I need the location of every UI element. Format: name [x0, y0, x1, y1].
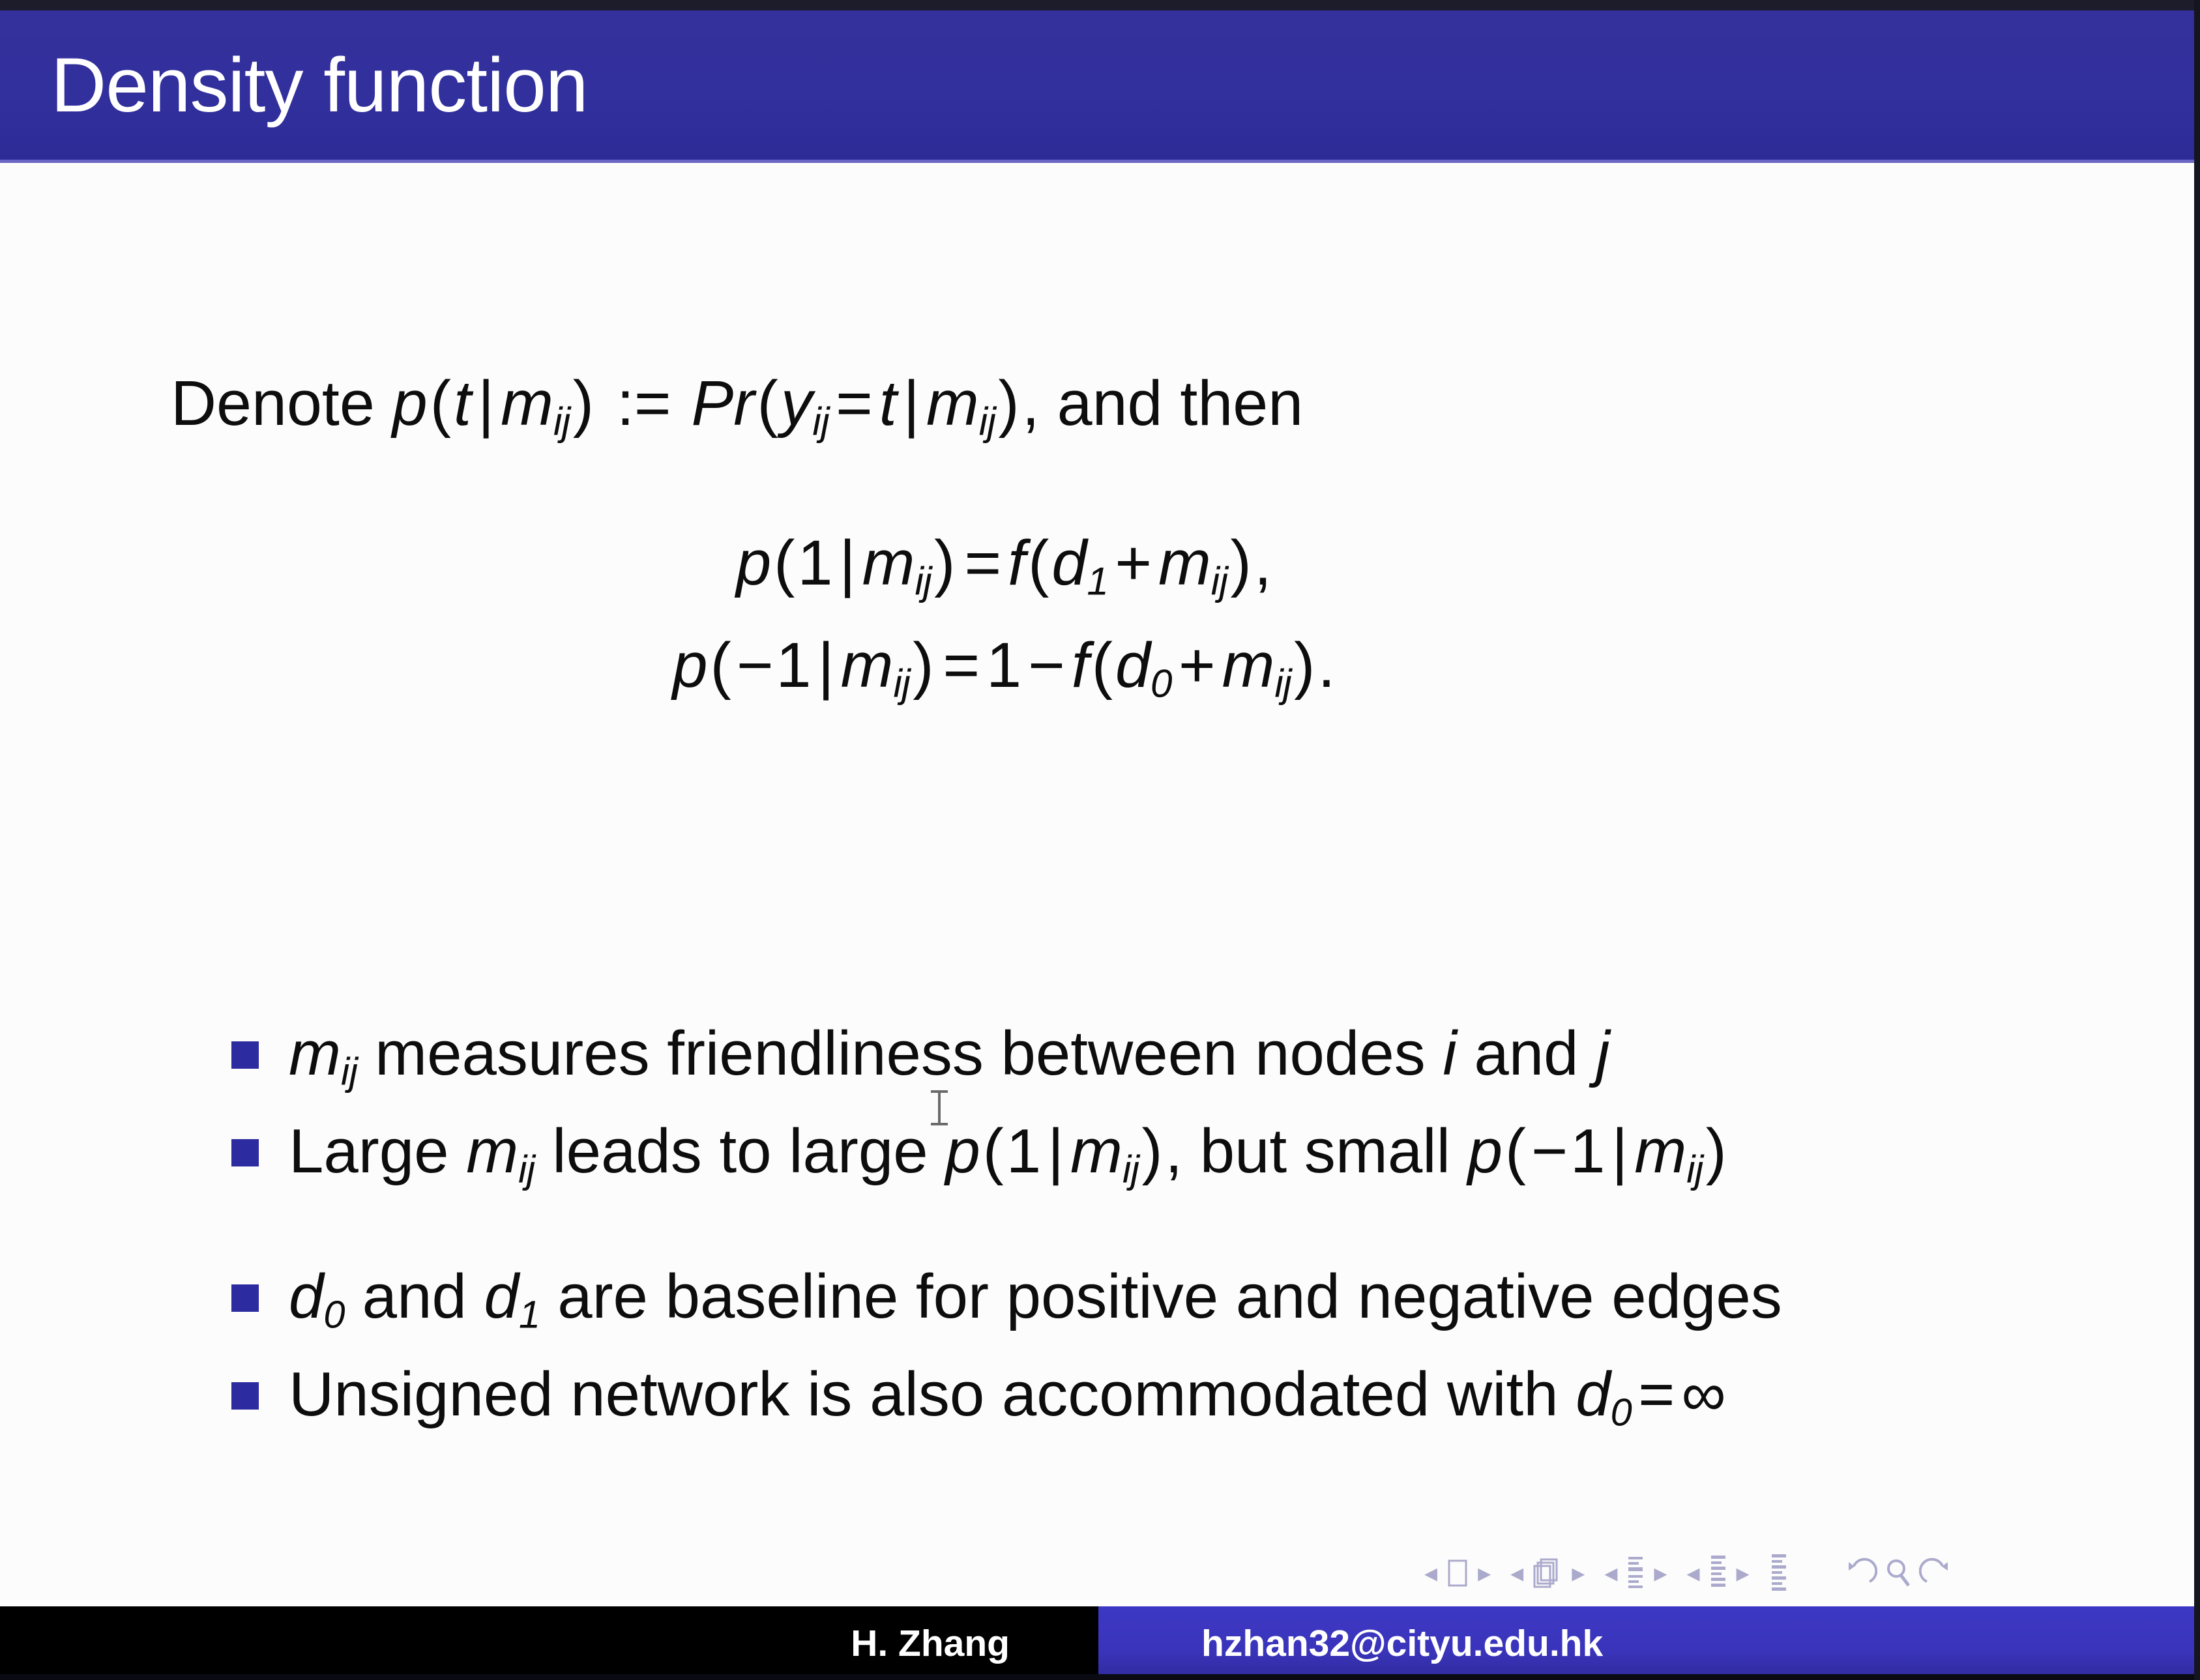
eq2-punct: . [1317, 630, 1335, 701]
bullet-large-mij: Large mij leads to large p(1|mij), but s… [289, 1114, 1729, 1193]
eq1-rhs-open: ( [1025, 527, 1051, 598]
eq2-lhs-m: m [841, 630, 894, 701]
b3-text-2: are baseline for positive and negative e… [540, 1262, 1782, 1331]
b4-d0: d [1576, 1359, 1610, 1429]
bullet-unsigned-network: Unsigned network is also accommodated wi… [289, 1357, 1726, 1436]
eq2-lhs-minus: − [734, 630, 776, 701]
eq1-rhs-close: ) [1228, 527, 1254, 598]
next-slide-arrow-icon[interactable]: ▸ [1478, 1560, 1491, 1586]
equation-p-minus1: p(−1|mij)=1−f(d0+mij). [0, 614, 2008, 716]
eq2-rhs-f: f [1072, 630, 1089, 701]
b4-equals: = [1632, 1359, 1681, 1429]
text-cursor-icon [931, 1090, 948, 1125]
top-letterbox-strip [0, 0, 2200, 10]
intro-paren-open-2: ( [755, 368, 781, 439]
eq2-lhs-m-sub: ij [893, 662, 910, 706]
eq2-rhs-m-sub: ij [1274, 662, 1291, 706]
intro-m-1-sub: ij [553, 400, 570, 444]
intro-assign-operator: := [614, 368, 674, 439]
intro-statement: Denote p(t|mij) := Pr(yij=t|mij), and th… [171, 371, 1303, 442]
b3-d1: d [484, 1262, 519, 1331]
eq1-lhs-close: ) [931, 527, 958, 598]
eq2-lhs-close: ) [910, 630, 936, 701]
b2-m-1-sub: ij [1122, 1147, 1139, 1191]
b2-close-1: ) [1139, 1116, 1165, 1186]
eq2-rhs-m: m [1222, 630, 1275, 701]
b4-d0-sub: 0 [1611, 1391, 1632, 1434]
b2-text-1: leads to large [535, 1116, 946, 1186]
eq2-lhs-bar: | [811, 630, 840, 701]
b2-m-sub: ij [518, 1147, 535, 1191]
prev-slide-arrow-icon[interactable]: ◂ [1424, 1560, 1437, 1586]
section-icon[interactable] [1709, 1554, 1728, 1592]
list-item: d0 and d1 are baseline for positive and … [231, 1260, 2122, 1338]
bottom-letterbox-strip [0, 1674, 2200, 1680]
b2-open-1: ( [980, 1116, 1006, 1186]
next-frame-arrow-icon[interactable]: ▸ [1572, 1560, 1585, 1586]
b1-i: i [1443, 1019, 1456, 1088]
frame-navigation[interactable]: ◂ ▸ [1510, 1557, 1585, 1589]
eq1-lhs-open: ( [771, 527, 797, 598]
slide-navigation[interactable]: ◂ ▸ [1424, 1558, 1491, 1588]
b1-text-1: measures friendliness between nodes [357, 1019, 1443, 1088]
eq1-rhs-d: d [1051, 527, 1087, 598]
b1-text-2: and [1457, 1019, 1596, 1088]
b2-p-2: p [1468, 1116, 1503, 1186]
intro-pr: Pr [692, 368, 755, 439]
eq2-lhs-p: p [673, 630, 708, 701]
eq2-rhs-one: 1 [986, 630, 1021, 701]
intro-m-2-sub: ij [979, 400, 996, 444]
b2-open-2: ( [1503, 1116, 1529, 1186]
subsection-navigation[interactable]: ◂ ▸ [1604, 1556, 1667, 1591]
bullet-square-icon [231, 1041, 259, 1069]
history-navigation[interactable] [1842, 1556, 1954, 1591]
page-title: Density function [51, 41, 588, 130]
prev-section-arrow-icon[interactable]: ◂ [1686, 1560, 1699, 1586]
slide-footer: H. Zhang hzhan32@cityu.edu.hk [0, 1606, 2200, 1680]
back-icon[interactable] [1842, 1556, 1877, 1591]
intro-m-1: m [501, 368, 553, 439]
eq2-rhs-close: ) [1291, 630, 1317, 701]
eq1-rhs-m-sub: ij [1211, 560, 1228, 603]
intro-y: y [781, 368, 813, 439]
intro-t: t [454, 368, 471, 439]
eq1-lhs-bar: | [832, 527, 862, 598]
b2-m: m [466, 1116, 518, 1186]
eq1-punct: , [1254, 527, 1272, 598]
b2-text-2: , but small [1165, 1116, 1467, 1186]
eq2-relation: = [937, 630, 987, 701]
right-letterbox-strip [2194, 0, 2200, 1680]
eq1-lhs-m: m [862, 527, 915, 598]
intro-equals: = [829, 368, 879, 439]
intro-paren-close: ) [570, 368, 596, 439]
eq1-relation: = [958, 527, 1008, 598]
bullet-list: mij measures friendliness between nodes … [231, 1017, 2122, 1436]
b2-arg-1: 1 [1006, 1116, 1041, 1186]
beamer-navigation-bar[interactable]: ◂ ▸ ◂ ▸ ◂ [1424, 1544, 2154, 1602]
list-item: Large mij leads to large p(1|mij), but s… [231, 1114, 2122, 1193]
b3-d1-sub: 1 [519, 1293, 540, 1337]
b2-m-1: m [1070, 1116, 1122, 1186]
slide-body: Denote p(t|mij) := Pr(yij=t|mij), and th… [0, 166, 2200, 1600]
intro-tail: , and then [1022, 368, 1303, 439]
b3-d0: d [289, 1262, 323, 1331]
b2-p-1: p [945, 1116, 980, 1186]
eq2-rhs-d: d [1115, 630, 1151, 701]
eq1-rhs-operator: + [1108, 527, 1158, 598]
b4-infinity: ∞ [1681, 1359, 1725, 1429]
b2-close-2: ) [1703, 1116, 1729, 1186]
eq2-rhs-open: ( [1089, 630, 1115, 701]
eq1-lhs-arg: 1 [797, 527, 832, 598]
next-subsection-arrow-icon[interactable]: ▸ [1654, 1560, 1667, 1586]
eq2-lhs-open: ( [708, 630, 734, 701]
b3-text-1: and [345, 1262, 484, 1331]
footer-author: H. Zhang [851, 1622, 1010, 1665]
bullet-square-icon [231, 1139, 259, 1166]
section-navigation[interactable]: ◂ ▸ [1686, 1554, 1749, 1592]
b2-m-2-sub: ij [1686, 1147, 1703, 1191]
b3-d0-sub: 0 [323, 1293, 345, 1337]
intro-m-2: m [926, 368, 979, 439]
b2-arg-2: 1 [1570, 1116, 1605, 1186]
intro-y-sub: ij [812, 400, 829, 444]
b2-minus: − [1529, 1116, 1570, 1186]
document-icon[interactable] [1769, 1553, 1789, 1593]
subsection-icon[interactable] [1626, 1556, 1645, 1591]
forward-icon[interactable] [1919, 1556, 1954, 1591]
eq2-rhs-operator: + [1172, 630, 1222, 701]
intro-bar-1: | [471, 368, 501, 439]
b1-m: m [289, 1019, 341, 1088]
eq1-rhs-d-sub: 1 [1087, 560, 1108, 603]
footer-email: hzhan32@cityu.edu.hk [1201, 1622, 1603, 1665]
intro-lead: Denote [171, 368, 375, 439]
bullet-d0-d1-baseline: d0 and d1 are baseline for positive and … [289, 1260, 1782, 1338]
b1-m-sub: ij [341, 1049, 357, 1093]
equation-p1: p(1|mij)=f(d1+mij), [0, 512, 2008, 614]
b1-j: j [1596, 1019, 1609, 1088]
intro-bar-2: | [897, 368, 926, 439]
eq1-rhs-f: f [1008, 527, 1025, 598]
footer-author-block: H. Zhang [0, 1606, 1098, 1680]
next-section-arrow-icon[interactable]: ▸ [1737, 1560, 1750, 1586]
b4-text-1: Unsigned network is also accommodated wi… [289, 1359, 1576, 1429]
prev-frame-arrow-icon[interactable]: ◂ [1510, 1560, 1523, 1586]
list-item: mij measures friendliness between nodes … [231, 1017, 2122, 1095]
eq2-rhs-d-sub: 0 [1151, 662, 1172, 706]
b2-bar-2: | [1605, 1116, 1634, 1186]
presentation-slide: Density function Denote p(t|mij) := Pr(y… [0, 0, 2200, 1680]
bullet-square-icon [231, 1382, 259, 1410]
bullet-mij-friendliness: mij measures friendliness between nodes … [289, 1017, 1610, 1095]
intro-paren-open: ( [428, 368, 454, 439]
list-item: Unsigned network is also accommodated wi… [231, 1357, 2122, 1436]
prev-subsection-arrow-icon[interactable]: ◂ [1604, 1560, 1617, 1586]
eq1-lhs-p: p [736, 527, 771, 598]
slide-title-bar: Density function [0, 10, 2200, 163]
eq1-lhs-m-sub: ij [915, 560, 931, 603]
bullet-square-icon [231, 1284, 259, 1312]
document-navigation[interactable] [1769, 1553, 1789, 1593]
b2-lead: Large [289, 1116, 466, 1186]
eq1-rhs-m: m [1158, 527, 1211, 598]
b2-m-2: m [1634, 1116, 1686, 1186]
footer-email-block: hzhan32@cityu.edu.hk [1098, 1606, 2200, 1680]
equation-block: p(1|mij)=f(d1+mij), p(−1|mij)=1−f(d0+mij… [0, 512, 2008, 716]
intro-p: p [392, 368, 428, 439]
intro-paren-close-2: ) [995, 368, 1021, 439]
slide-icon[interactable] [1446, 1558, 1469, 1588]
search-icon[interactable] [1883, 1556, 1914, 1591]
eq2-lhs-arg: 1 [776, 630, 812, 701]
eq2-rhs-minus: − [1021, 630, 1072, 701]
frame-icon[interactable] [1532, 1557, 1563, 1589]
b2-bar-1: | [1041, 1116, 1070, 1186]
intro-t-2: t [879, 368, 897, 439]
